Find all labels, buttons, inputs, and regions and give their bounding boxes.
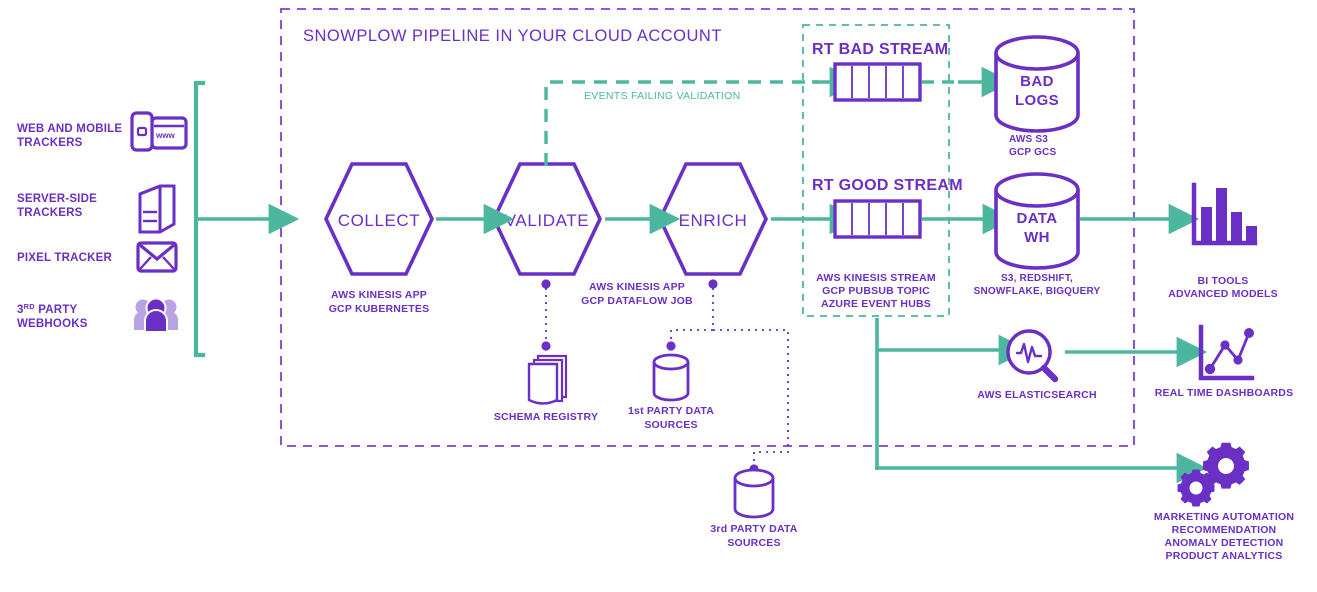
output-label-line1: MARKETING AUTOMATION — [1154, 511, 1294, 523]
pipeline-stage-validate[interactable]: VALIDATE AWS KINESIS APP GCP DATAFLOW JO… — [494, 164, 693, 307]
line-chart-icon — [1201, 327, 1254, 378]
stream-sub-line1: AWS KINESIS STREAM — [816, 272, 936, 284]
stream-title: RT BAD STREAM — [812, 41, 948, 58]
output-label-line3: ANOMALY DETECTION — [1165, 537, 1284, 549]
schema-registry-node[interactable]: SCHEMA REGISTRY — [494, 356, 598, 423]
database-cylinder-icon — [654, 355, 688, 400]
store-title-line2: LOGS — [1015, 92, 1059, 109]
mobile-browser-icon: www — [132, 113, 186, 150]
architecture-diagram: SNOWPLOW PIPELINE IN YOUR CLOUD ACCOUNT … — [0, 0, 1317, 592]
node-label-line1: 1st PARTY DATA — [628, 405, 714, 417]
stage-label: COLLECT — [338, 211, 421, 230]
source-label-line2: WEBHOOKS — [17, 318, 88, 330]
diagram-canvas: SNOWPLOW PIPELINE IN YOUR CLOUD ACCOUNT … — [0, 0, 1317, 592]
store-title-line2: WH — [1024, 229, 1050, 246]
source-label-line1: 3RD PARTY — [17, 302, 77, 316]
gears-icon — [1178, 443, 1249, 507]
source-label-line1: WEB AND MOBILE — [17, 123, 122, 135]
database-cylinder-icon — [735, 470, 773, 517]
stage-sub-line1: AWS KINESIS APP — [589, 281, 685, 293]
source-item-webhooks: 3RD PARTY WEBHOOKS — [17, 299, 178, 333]
stream-box — [835, 64, 920, 100]
rt-good-stream[interactable]: RT GOOD STREAM AWS KINESIS STREAM GCP PU… — [812, 177, 963, 310]
output-label-line1: AWS ELASTICSEARCH — [977, 389, 1097, 401]
people-icon — [134, 299, 178, 333]
browser-www-text: www — [155, 131, 175, 140]
page-title: SNOWPLOW PIPELINE IN YOUR CLOUD ACCOUNT — [303, 27, 722, 45]
output-label-line4: PRODUCT ANALYTICS — [1166, 550, 1283, 562]
events-failing-validation-label: EVENTS FAILING VALIDATION — [584, 90, 740, 102]
stream-sub-line3: AZURE EVENT HUBS — [821, 298, 931, 310]
stream-box — [835, 201, 920, 237]
first-party-data-node[interactable]: 1st PARTY DATA SOURCES — [628, 355, 714, 431]
bad-logs-store[interactable]: BAD LOGS AWS S3 GCP GCS — [996, 37, 1078, 158]
node-label-line1: 3rd PARTY DATA — [710, 523, 797, 535]
source-label-prefix: 3 — [17, 304, 24, 316]
node-label-line2: SOURCES — [727, 537, 780, 549]
node-label-line1: SCHEMA REGISTRY — [494, 411, 598, 423]
stream-title: RT GOOD STREAM — [812, 177, 963, 194]
output-label-line1: REAL TIME DASHBOARDS — [1155, 387, 1294, 399]
store-sub-line2: SNOWFLAKE, BIGQUERY — [974, 286, 1101, 297]
stage-sub-line2: GCP KUBERNETES — [329, 303, 430, 315]
source-label-line2: TRACKERS — [17, 207, 83, 219]
source-item-web-mobile: WEB AND MOBILE TRACKERS www — [17, 113, 186, 150]
rt-bad-stream[interactable]: RT BAD STREAM — [812, 41, 948, 100]
source-label-superscript: RD — [24, 302, 36, 311]
store-title-line1: DATA — [1016, 210, 1057, 227]
documents-stack-icon — [529, 356, 566, 404]
source-label-line2: TRACKERS — [17, 137, 83, 149]
output-label-line2: RECOMMENDATION — [1172, 524, 1277, 536]
stage-sub-line2: GCP DATAFLOW JOB — [581, 295, 693, 307]
source-label-line1: PIXEL TRACKER — [17, 252, 113, 264]
stage-label: ENRICH — [679, 211, 748, 230]
store-sub-line1: S3, REDSHIFT, — [1001, 273, 1073, 284]
source-label-suffix: PARTY — [35, 304, 78, 316]
node-label-line2: SOURCES — [644, 419, 697, 431]
store-sub-line2: GCP GCS — [1009, 147, 1056, 158]
data-warehouse-store[interactable]: DATA WH S3, REDSHIFT, SNOWFLAKE, BIGQUER… — [974, 174, 1101, 297]
store-title-line1: BAD — [1020, 73, 1054, 90]
server-icon — [140, 186, 174, 232]
dashboards-output[interactable]: REAL TIME DASHBOARDS — [1155, 327, 1294, 399]
third-party-data-node[interactable]: 3rd PARTY DATA SOURCES — [710, 470, 797, 549]
schema-registry-link — [541, 279, 550, 350]
bar-chart-icon — [1194, 185, 1257, 243]
automation-output[interactable]: MARKETING AUTOMATION RECOMMENDATION ANOM… — [1154, 443, 1294, 562]
store-sub-line1: AWS S3 — [1009, 134, 1048, 145]
bi-tools-output[interactable]: BI TOOLS ADVANCED MODELS — [1168, 185, 1278, 300]
source-label-line1: SERVER-SIDE — [17, 193, 97, 205]
elasticsearch-output[interactable]: AWS ELASTICSEARCH — [977, 331, 1097, 401]
output-label-line2: ADVANCED MODELS — [1168, 288, 1278, 300]
pipeline-stage-collect[interactable]: COLLECT AWS KINESIS APP GCP KUBERNETES — [326, 164, 432, 315]
envelope-icon — [138, 243, 176, 271]
source-item-pixel-tracker: PIXEL TRACKER — [17, 243, 176, 271]
source-item-server-side: SERVER-SIDE TRACKERS — [17, 186, 174, 232]
pipeline-stage-enrich[interactable]: ENRICH — [660, 164, 766, 274]
stage-label: VALIDATE — [505, 211, 589, 230]
output-label-line1: BI TOOLS — [1198, 275, 1249, 287]
stage-sub-line1: AWS KINESIS APP — [331, 289, 427, 301]
magnifier-pulse-icon — [1008, 331, 1055, 379]
stream-sub-line2: GCP PUBSUB TOPIC — [822, 285, 930, 297]
